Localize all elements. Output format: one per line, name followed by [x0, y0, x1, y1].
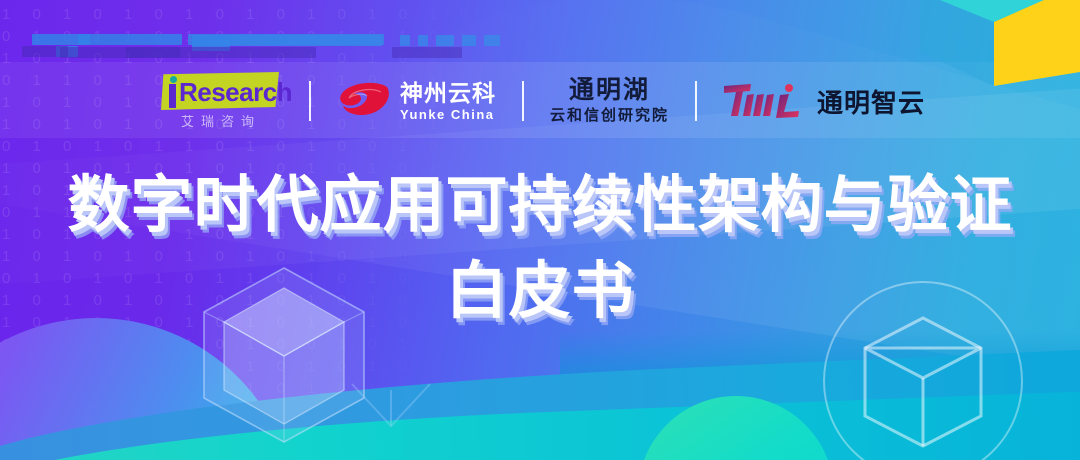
partner-logo-row: Research 艾瑞咨询 神州云科 Yunke China 通明湖 云和信创研…	[0, 70, 1080, 132]
logo-tmi: 通明智云	[723, 70, 925, 132]
tmi-wordmark-icon	[723, 83, 807, 119]
title-line-1: 数字时代应用可持续性架构与验证	[0, 168, 1080, 244]
chevron-down-icon	[348, 380, 434, 438]
yunke-swirl-icon	[337, 81, 391, 121]
yunke-chinese: 神州云科	[400, 82, 496, 105]
yunke-english: Yunke China	[400, 108, 496, 121]
tongminghu-subtitle: 云和信创研究院	[550, 109, 669, 124]
tongminghu-text: 通明湖 云和信创研究院	[550, 78, 669, 124]
logo-separator	[695, 81, 697, 121]
yunke-text: 神州云科 Yunke China	[400, 82, 496, 121]
logo-yunke-china: 神州云科 Yunke China	[337, 70, 496, 132]
whitepaper-cover: 1 0 1 0 1 0 1 0 1 0 1 0 1 0 1 0 1 0 1 0 …	[0, 0, 1080, 460]
cover-title: 数字时代应用可持续性架构与验证 白皮书	[0, 168, 1080, 330]
logo-separator	[522, 81, 524, 121]
tmi-chinese: 通明智云	[817, 83, 925, 120]
iresearch-wordmark: Research	[179, 78, 292, 106]
iresearch-chinese: 艾瑞咨询	[163, 111, 279, 130]
iresearch-initial	[169, 84, 176, 108]
logo-iresearch: Research 艾瑞咨询	[155, 70, 283, 132]
logo-tongminghu: 通明湖 云和信创研究院	[550, 70, 669, 132]
tongminghu-name: 通明湖	[550, 78, 669, 103]
iresearch-dot-icon	[170, 76, 177, 83]
logo-separator	[309, 81, 311, 121]
title-line-2: 白皮书	[0, 254, 1080, 330]
